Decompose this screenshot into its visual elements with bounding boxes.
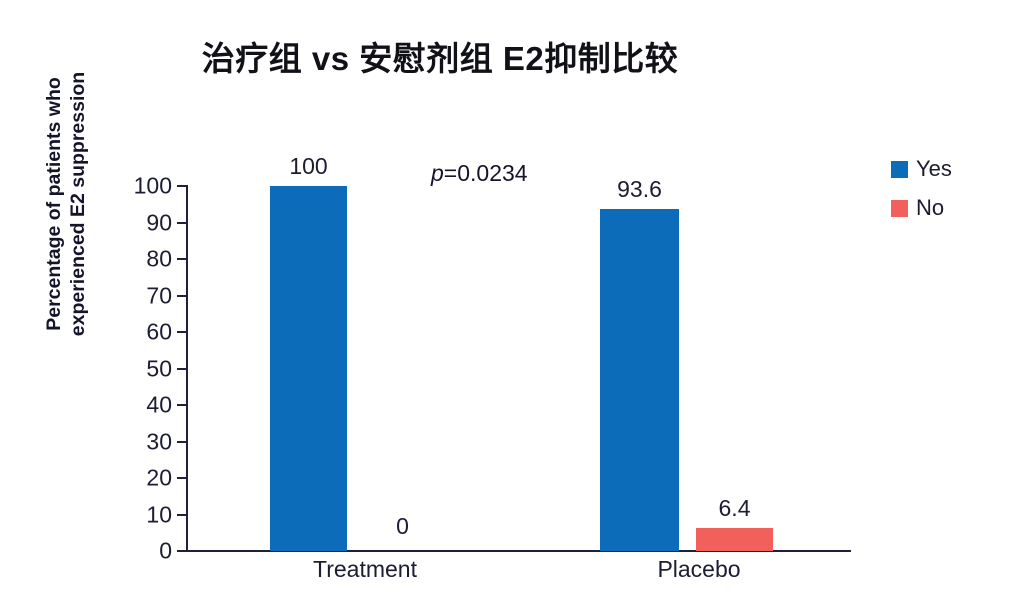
y-tick-mark xyxy=(177,368,187,370)
x-axis-category-treatment: Treatment xyxy=(313,556,417,583)
bar-label-placebo-no: 6.4 xyxy=(719,495,751,522)
x-axis-category-placebo: Placebo xyxy=(657,556,740,583)
chart-legend: Yes No xyxy=(891,160,1001,238)
y-tick-label: 10 xyxy=(112,503,172,526)
bar-label-treatment-no: 0 xyxy=(396,513,409,540)
y-tick-label: 70 xyxy=(112,284,172,307)
plot-area: 100 0 93.6 6.4 xyxy=(187,186,850,551)
y-tick-mark xyxy=(177,514,187,516)
y-tick-mark xyxy=(177,185,187,187)
legend-swatch-no-icon xyxy=(891,200,908,217)
legend-swatch-yes-icon xyxy=(891,161,908,178)
y-tick-label: 50 xyxy=(112,357,172,380)
y-tick-label: 20 xyxy=(112,467,172,490)
y-tick-label: 60 xyxy=(112,321,172,344)
legend-label-no: No xyxy=(916,197,944,219)
y-tick-mark xyxy=(177,550,187,552)
bar-placebo-yes[interactable] xyxy=(600,209,679,551)
p-value-symbol: p xyxy=(431,160,444,186)
bar-label-placebo-yes: 93.6 xyxy=(617,176,662,203)
y-axis-title-line-1: Percentage of patients who xyxy=(43,77,67,331)
bar-treatment-yes[interactable] xyxy=(270,186,347,551)
legend-item-no[interactable]: No xyxy=(891,199,1001,217)
legend-label-yes: Yes xyxy=(916,158,952,180)
y-tick-mark xyxy=(177,295,187,297)
y-tick-label: 90 xyxy=(112,211,172,234)
y-tick-mark xyxy=(177,477,187,479)
y-tick-mark xyxy=(177,258,187,260)
y-tick-label: 0 xyxy=(112,540,172,563)
bar-placebo-no[interactable] xyxy=(696,528,773,551)
y-tick-label: 100 xyxy=(112,175,172,198)
y-axis-tick-labels: 100 90 80 70 60 50 40 30 20 10 0 xyxy=(110,0,172,600)
y-tick-mark xyxy=(177,441,187,443)
bar-label-treatment-yes: 100 xyxy=(289,153,327,180)
p-value-annotation: p=0.0234 xyxy=(431,160,528,187)
legend-item-yes[interactable]: Yes xyxy=(891,160,1001,178)
y-tick-mark xyxy=(177,404,187,406)
y-axis-title-line-2: experienced E2 suppression xyxy=(67,72,91,336)
y-tick-label: 40 xyxy=(112,394,172,417)
p-value-number: =0.0234 xyxy=(444,160,528,186)
y-tick-mark xyxy=(177,331,187,333)
y-tick-label: 30 xyxy=(112,430,172,453)
y-tick-label: 80 xyxy=(112,248,172,271)
y-tick-mark xyxy=(177,222,187,224)
